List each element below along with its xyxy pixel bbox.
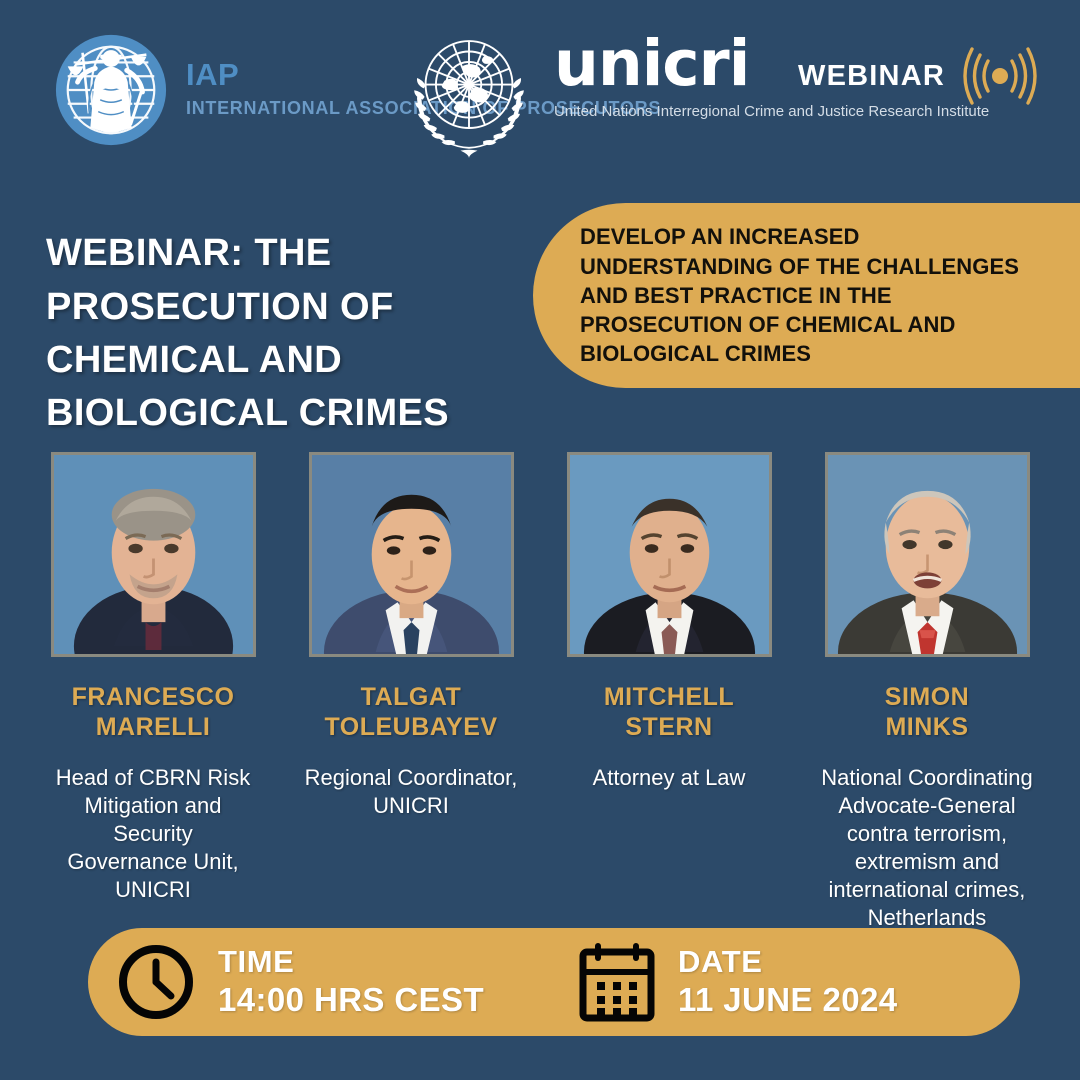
portrait-frame xyxy=(567,452,772,657)
calendar-icon xyxy=(576,940,658,1024)
objective-text: DEVELOP AN INCREASED UNDERSTANDING OF TH… xyxy=(533,222,1029,368)
speaker-name: MITCHELL STERN xyxy=(604,682,734,742)
speaker-role: Head of CBRN Risk Mitigation and Securit… xyxy=(44,764,262,904)
clock-icon xyxy=(114,940,198,1024)
broadcast-signal-icon xyxy=(962,44,1038,108)
webinar-badge-label: WEBINAR xyxy=(798,60,945,93)
footer-bar: TIME 14:00 HRS CEST xyxy=(88,928,1020,1036)
date-info-lines: DATE 11 JUNE 2024 xyxy=(678,946,897,1019)
portrait-frame xyxy=(51,452,256,657)
date-value: 11 JUNE 2024 xyxy=(678,983,897,1018)
objective-banner: DEVELOP AN INCREASED UNDERSTANDING OF TH… xyxy=(533,203,1080,388)
time-value: 14:00 HRS CEST xyxy=(218,983,484,1018)
portrait-francesco-marelli xyxy=(54,455,253,654)
speaker-card: SIMON MINKS National Coordinating Advoca… xyxy=(818,452,1036,932)
speaker-name: TALGAT TOLEUBAYEV xyxy=(324,682,497,742)
portrait-frame xyxy=(309,452,514,657)
webinar-poster: IAP INTERNATIONAL ASSOCIATION OF PROSECU… xyxy=(0,0,1080,1080)
united-nations-emblem-icon xyxy=(398,26,540,162)
portrait-simon-minks xyxy=(828,455,1027,654)
date-label: DATE xyxy=(678,946,897,979)
speaker-name: SIMON MINKS xyxy=(885,682,969,742)
webinar-badge: WEBINAR xyxy=(798,44,1038,108)
time-info-lines: TIME 14:00 HRS CEST xyxy=(218,946,484,1019)
speaker-role: National Coordinating Advocate-General c… xyxy=(821,764,1033,932)
speaker-role: Regional Coordinator, UNICRI xyxy=(305,764,518,820)
portrait-mitchell-stern xyxy=(570,455,769,654)
portrait-talgat-toleubayev xyxy=(312,455,511,654)
time-info-block: TIME 14:00 HRS CEST xyxy=(114,940,484,1024)
lady-justice-globe-icon xyxy=(52,31,170,149)
speaker-card: TALGAT TOLEUBAYEV Regional Coordinator, … xyxy=(302,452,520,932)
portrait-frame xyxy=(825,452,1030,657)
date-info-block: DATE 11 JUNE 2024 xyxy=(576,940,897,1024)
speaker-card: FRANCESCO MARELLI Head of CBRN Risk Miti… xyxy=(44,452,262,932)
speakers-row: FRANCESCO MARELLI Head of CBRN Risk Miti… xyxy=(0,452,1080,932)
speaker-card: MITCHELL STERN Attorney at Law xyxy=(560,452,778,932)
speaker-role: Attorney at Law xyxy=(593,764,746,792)
speaker-name: FRANCESCO MARELLI xyxy=(72,682,235,742)
page-title: WEBINAR: THE PROSECUTION OF CHEMICAL AND… xyxy=(46,227,516,440)
header: IAP INTERNATIONAL ASSOCIATION OF PROSECU… xyxy=(0,0,1080,182)
time-label: TIME xyxy=(218,946,484,979)
